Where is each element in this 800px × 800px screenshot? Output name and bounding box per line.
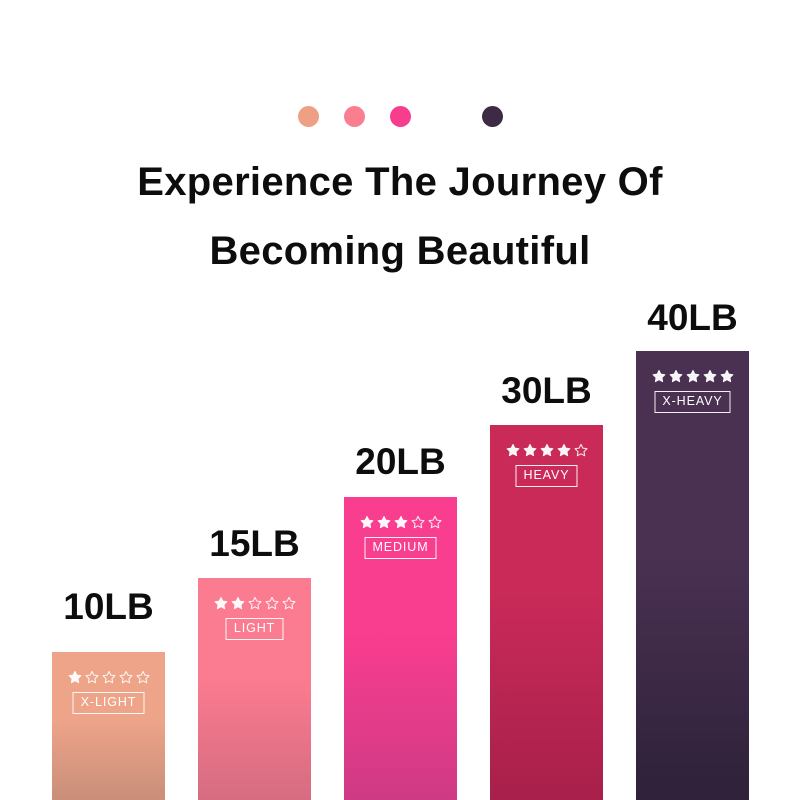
bar-weight-label: 40LB: [647, 297, 737, 339]
bar-level-badge: HEAVY: [516, 465, 578, 487]
bar-weight-label: 10LB: [63, 586, 153, 628]
star-empty-icon: [410, 515, 425, 530]
star-filled-icon: [522, 443, 537, 458]
bar-badge-group: X-LIGHT: [52, 652, 165, 714]
bar-rect[interactable]: LIGHT: [198, 578, 311, 800]
star-filled-icon: [651, 369, 666, 384]
star-empty-icon: [573, 443, 588, 458]
bar-rect[interactable]: MEDIUM: [344, 497, 457, 800]
star-empty-icon: [84, 670, 99, 685]
star-empty-icon: [281, 596, 296, 611]
bar-level-badge: X-LIGHT: [73, 692, 145, 714]
star-rating: [651, 369, 734, 384]
star-empty-icon: [118, 670, 133, 685]
star-rating: [67, 670, 150, 685]
bar-badge-group: LIGHT: [198, 578, 311, 640]
bar-weight-label: 30LB: [501, 370, 591, 412]
bar-column[interactable]: 30LBHEAVY: [490, 0, 603, 800]
star-filled-icon: [505, 443, 520, 458]
star-filled-icon: [393, 515, 408, 530]
bar-level-badge: MEDIUM: [364, 537, 436, 559]
star-filled-icon: [539, 443, 554, 458]
star-empty-icon: [135, 670, 150, 685]
bar-badge-group: X-HEAVY: [636, 351, 749, 413]
star-filled-icon: [702, 369, 717, 384]
star-filled-icon: [67, 670, 82, 685]
bar-badge-group: MEDIUM: [344, 497, 457, 559]
bar-weight-label: 15LB: [209, 523, 299, 565]
star-empty-icon: [264, 596, 279, 611]
star-filled-icon: [213, 596, 228, 611]
resistance-bar-chart: 10LBX-LIGHT15LBLIGHT20LBMEDIUM30LBHEAVY4…: [0, 0, 800, 800]
star-filled-icon: [556, 443, 571, 458]
star-rating: [505, 443, 588, 458]
star-filled-icon: [359, 515, 374, 530]
bar-column[interactable]: 40LBX-HEAVY: [636, 0, 749, 800]
bar-badge-group: HEAVY: [490, 425, 603, 487]
bar-rect[interactable]: X-LIGHT: [52, 652, 165, 800]
star-empty-icon: [247, 596, 262, 611]
bar-weight-label: 20LB: [355, 441, 445, 483]
bar-rect[interactable]: HEAVY: [490, 425, 603, 800]
bar-column[interactable]: 20LBMEDIUM: [344, 0, 457, 800]
star-empty-icon: [101, 670, 116, 685]
star-filled-icon: [719, 369, 734, 384]
star-empty-icon: [427, 515, 442, 530]
bar-level-badge: X-HEAVY: [654, 391, 730, 413]
star-filled-icon: [230, 596, 245, 611]
star-filled-icon: [685, 369, 700, 384]
bar-column[interactable]: 15LBLIGHT: [198, 0, 311, 800]
promo-banner: Experience The Journey Of Becoming Beaut…: [0, 0, 800, 800]
bar-level-badge: LIGHT: [226, 618, 283, 640]
star-rating: [213, 596, 296, 611]
star-filled-icon: [376, 515, 391, 530]
star-filled-icon: [668, 369, 683, 384]
bar-column[interactable]: 10LBX-LIGHT: [52, 0, 165, 800]
bar-rect[interactable]: X-HEAVY: [636, 351, 749, 800]
star-rating: [359, 515, 442, 530]
